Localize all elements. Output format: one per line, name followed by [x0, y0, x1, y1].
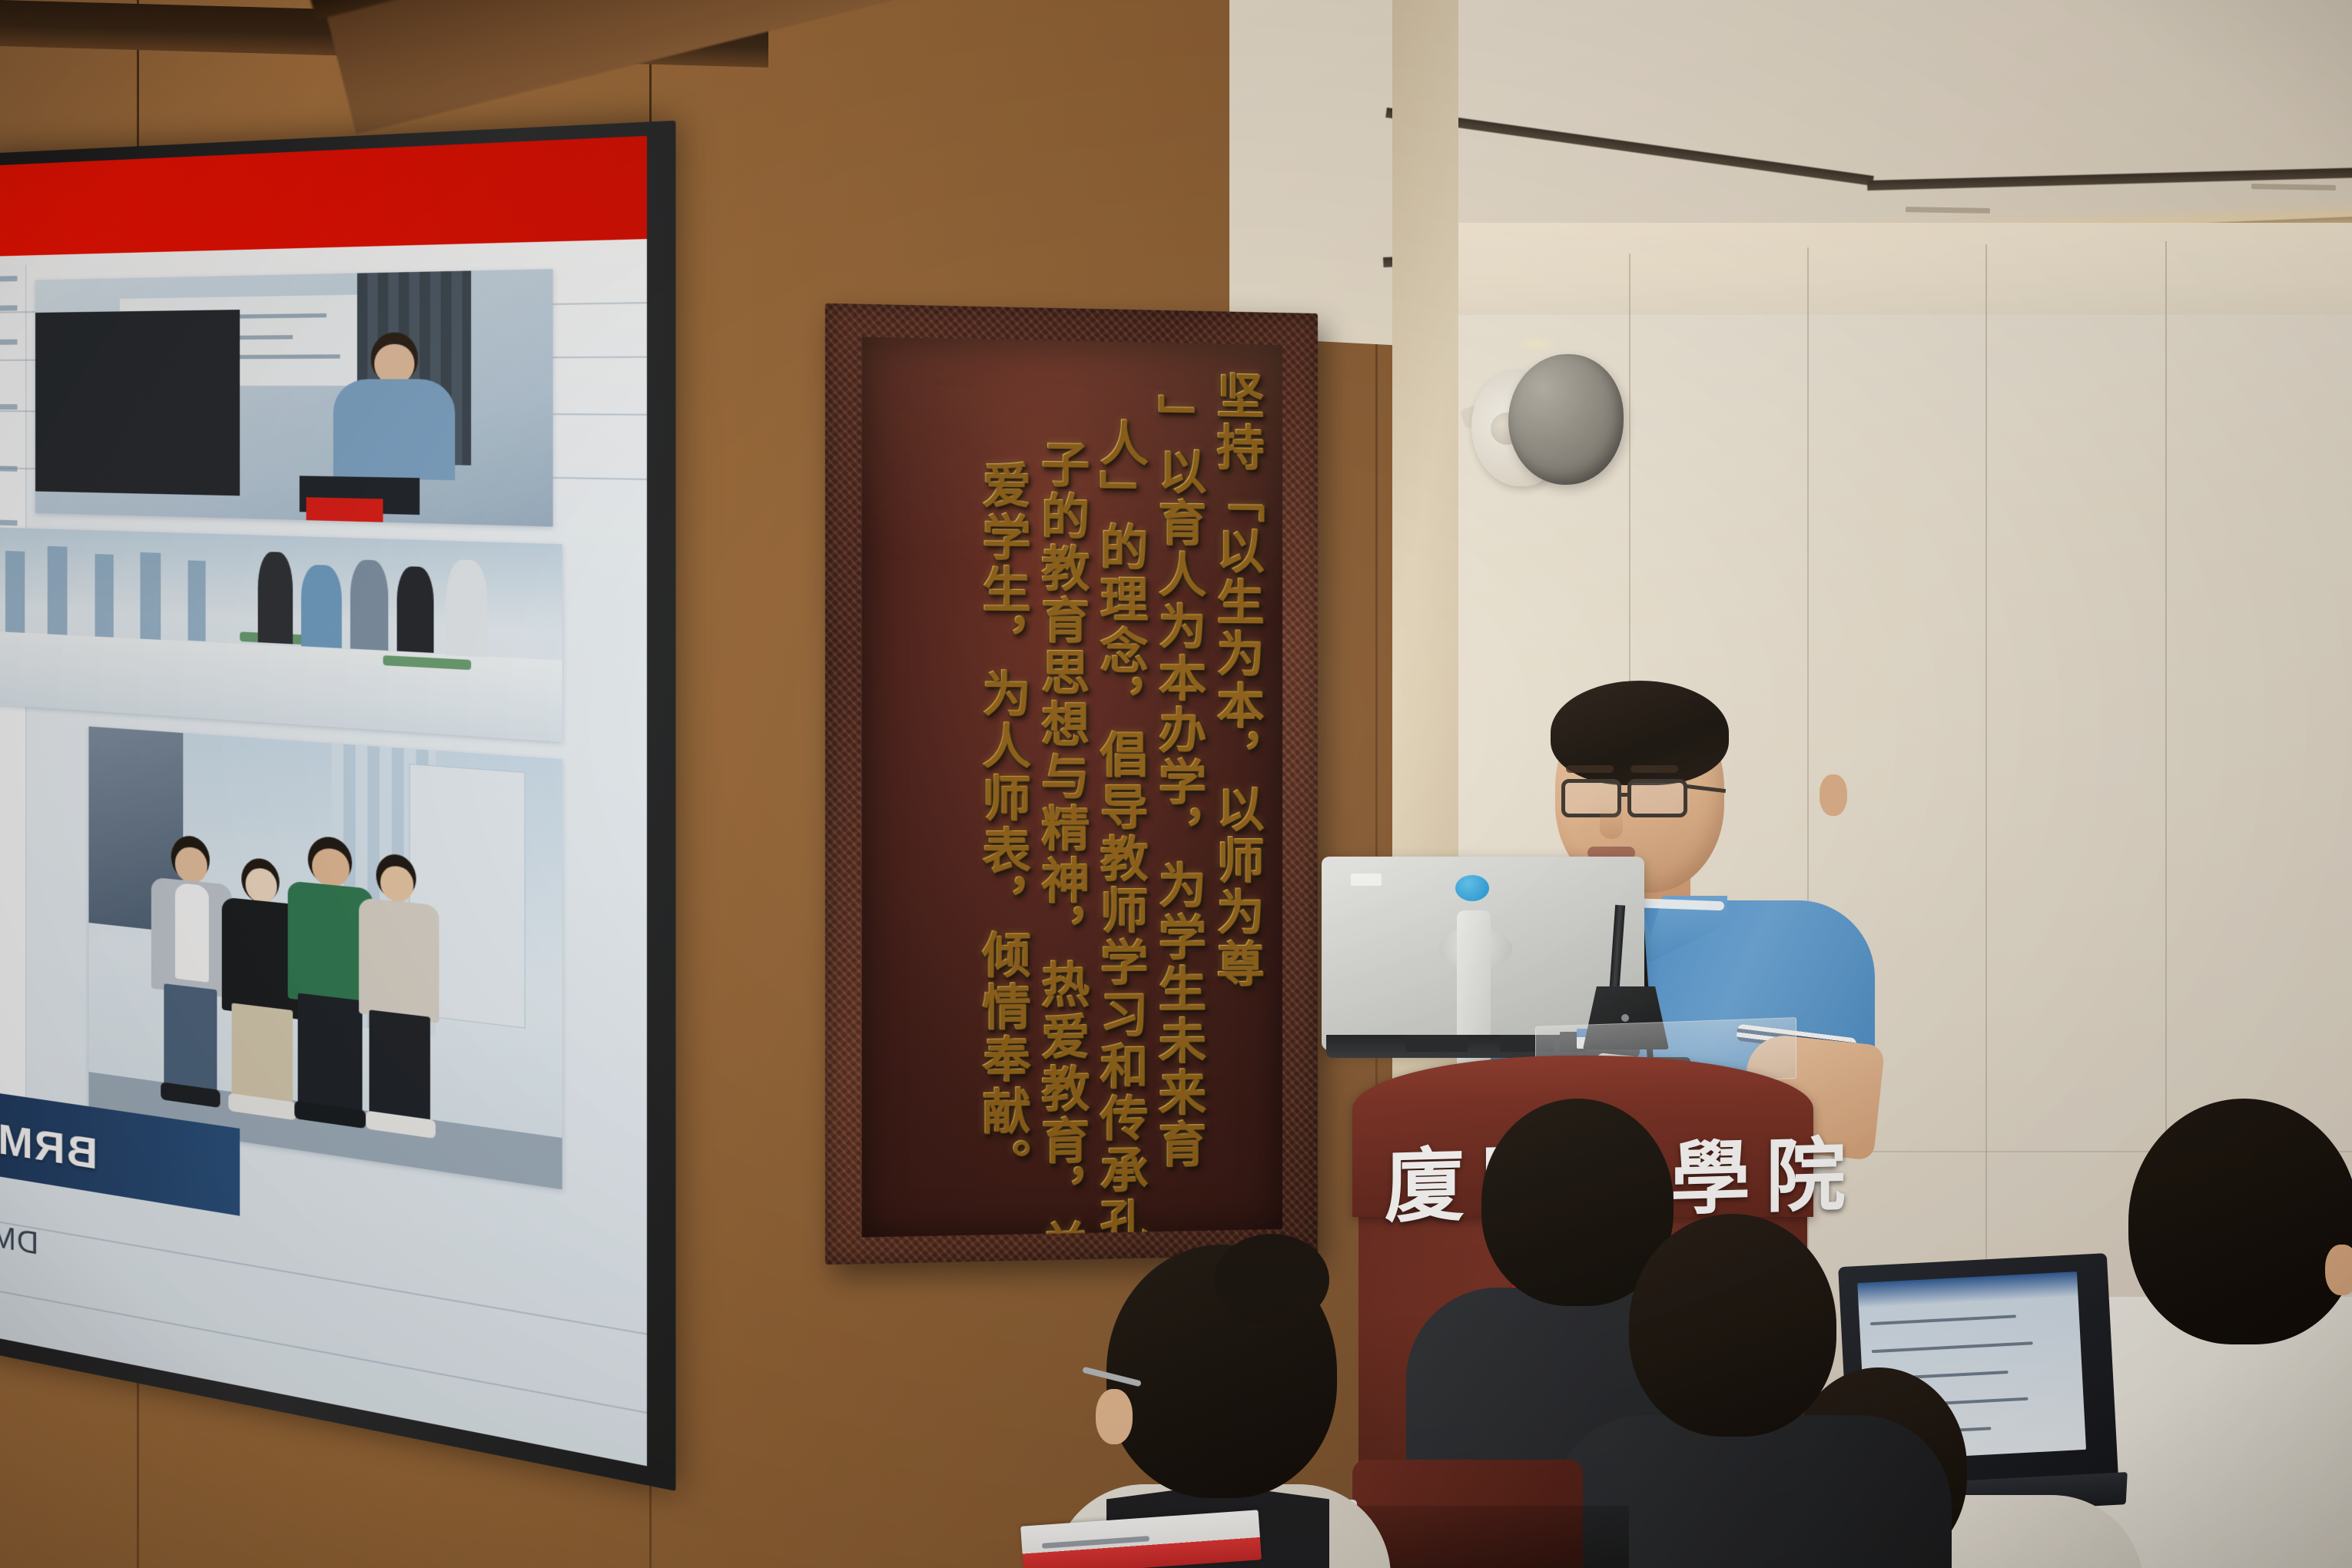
slide-sidebar — [0, 265, 26, 1150]
microphone-indicator-light — [1621, 1014, 1629, 1022]
wooden-calligraphy-plaque: 坚持「以生为本，以师为尊 」以育人为本办学，为学生未来育 人」的理念，倡导教师学… — [825, 303, 1318, 1265]
wall-panel-seam — [1985, 244, 1987, 1274]
plaque-column-3: 人」的理念，倡导教师学习和传承孔 — [1090, 417, 1146, 1237]
presenter-ear — [1820, 774, 1847, 816]
conference-room-photo: BRM DM 坚持「以生为本，以师为尊 」以育人为本办学，为学生未来育 人」的理… — [0, 0, 2352, 1568]
camera-highlight — [1518, 337, 1556, 350]
presenter-nose — [1600, 807, 1623, 839]
monitor-blue-badge-sticker — [1455, 875, 1489, 901]
wall-panel-seam — [2165, 241, 2167, 1194]
eyeglasses-bridge — [1620, 793, 1630, 797]
plaque-column-5: 爱学生，为人师表，倾情奉献。 — [971, 459, 1029, 1191]
plaque-column-1: 坚持「以生为本，以师为尊 — [1206, 370, 1262, 990]
audience-member-center — [1583, 1214, 1906, 1568]
presenter-eyebrow-right — [1630, 765, 1678, 773]
presenter-eyebrow-left — [1566, 765, 1614, 773]
monitor-brand-logo — [1351, 874, 1382, 886]
wall-dome-camera — [1471, 327, 1621, 492]
eyeglasses-lens-right — [1627, 779, 1687, 817]
monitor-port-group — [1406, 1035, 1468, 1052]
slide-navy-caption-text: BRM — [0, 1113, 98, 1179]
plaque-text-columns: 坚持「以生为本，以师为尊 」以育人为本办学，为学生未来育 人」的理念，倡导教师学… — [862, 337, 1282, 1238]
camera-dome — [1508, 354, 1624, 485]
slide-photo-exhibition — [0, 527, 562, 742]
plaque-column-4: 子的教育思想与精神，热爱教育，关 — [1030, 438, 1088, 1237]
slide-photo-office-meeting — [35, 269, 553, 526]
projection-screen[interactable]: BRM DM — [0, 121, 675, 1491]
plaque-column-2: 」以育人为本办学，为学生未来育 — [1148, 393, 1205, 1171]
cream-wall-lit-band — [1445, 223, 2352, 315]
plaque-panel: 坚持「以生为本，以师为尊 」以育人为本办学，为学生未来育 人」的理念，倡导教师学… — [862, 337, 1282, 1238]
audience-member-white-shirt-right — [2105, 1099, 2352, 1568]
screen-surface: BRM DM — [0, 136, 647, 1466]
